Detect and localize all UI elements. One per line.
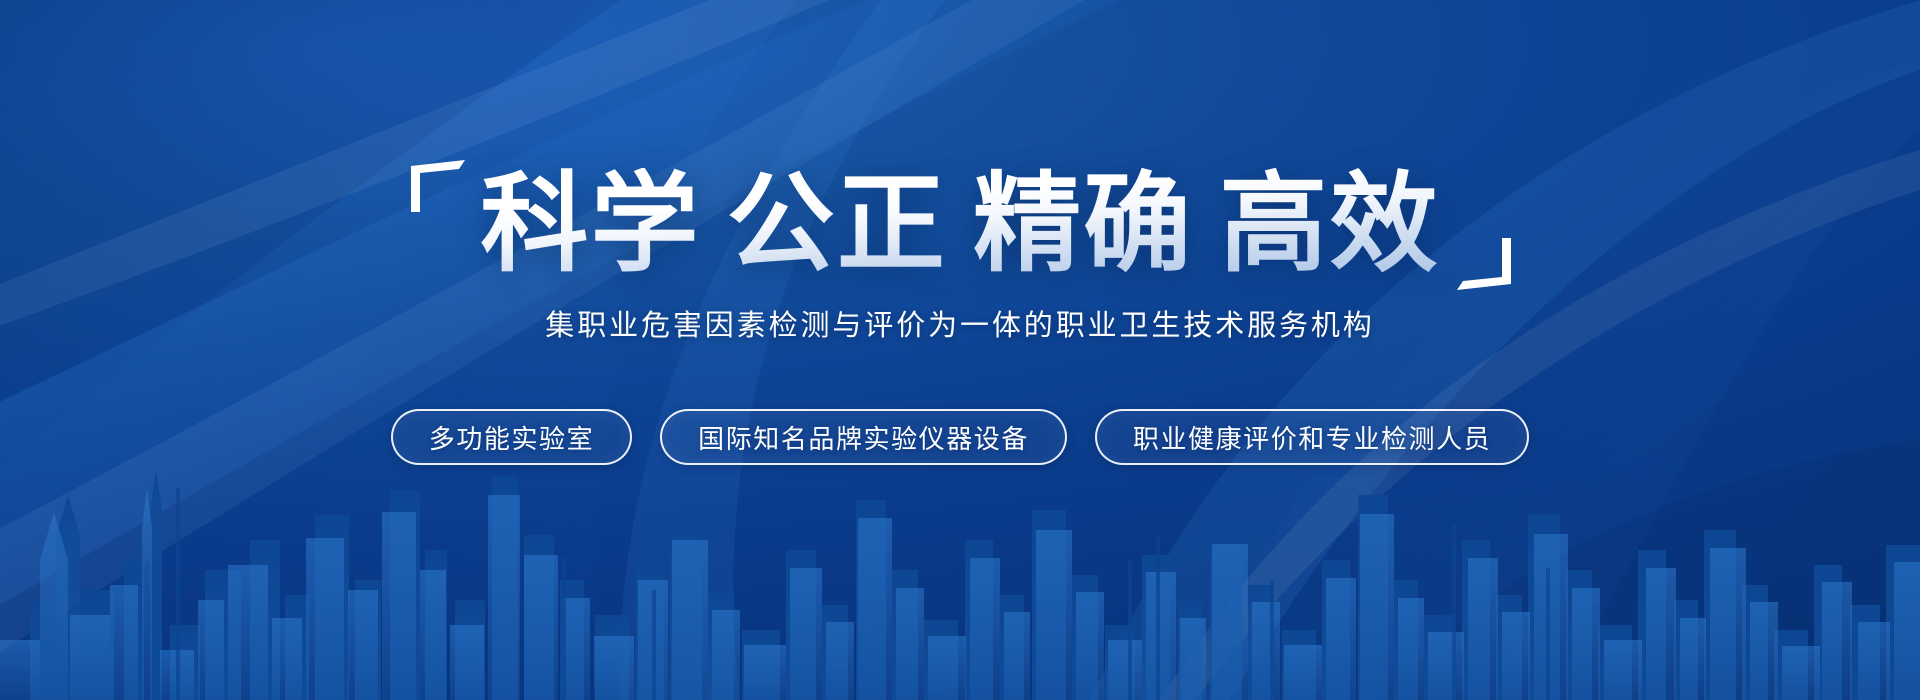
headline-word-4: 高效 — [1206, 163, 1452, 284]
feature-pill-list: 多功能实验室 国际知名品牌实验仪器设备 职业健康评价和专业检测人员 — [391, 409, 1529, 465]
banner-subtitle: 集职业危害因素检测与评价为一体的职业卫生技术服务机构 — [545, 302, 1374, 344]
headline-word-3: 精确 — [960, 163, 1206, 284]
feature-pill-lab[interactable]: 多功能实验室 — [391, 409, 632, 465]
feature-pill-equipment[interactable]: 国际知名品牌实验仪器设备 — [660, 409, 1067, 465]
hero-banner: 科学公正精确高效 集职业危害因素检测与评价为一体的职业卫生技术服务机构 多功能实… — [0, 0, 1920, 700]
banner-content: 科学公正精确高效 集职业危害因素检测与评价为一体的职业卫生技术服务机构 多功能实… — [0, 0, 1920, 700]
headline-word-1: 科学 — [467, 163, 713, 284]
page-title: 科学公正精确高效 — [433, 168, 1486, 280]
headline-group: 科学公正精确高效 — [433, 168, 1486, 280]
feature-pill-staff[interactable]: 职业健康评价和专业检测人员 — [1095, 409, 1529, 465]
headline-word-2: 公正 — [714, 163, 960, 284]
